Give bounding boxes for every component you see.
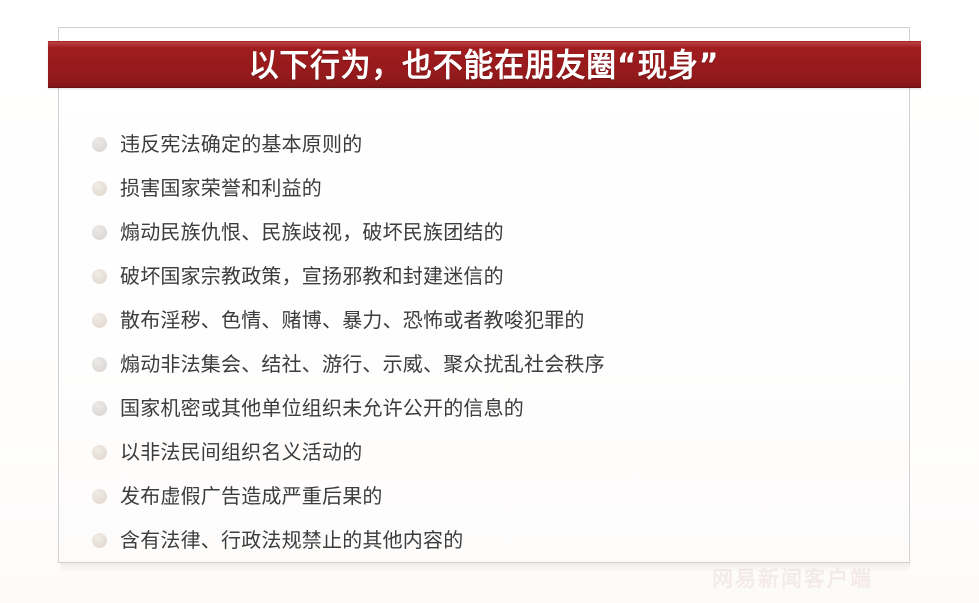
list-item: 散布淫秽、色情、赌博、暴力、恐怖或者教唆犯罪的 xyxy=(92,298,882,342)
list-item: 发布虚假广告造成严重后果的 xyxy=(92,474,882,518)
dot-bullet-icon xyxy=(92,225,107,240)
page-title: 以下行为，也不能在朋友圈“现身” xyxy=(249,49,720,81)
list-item-label: 煽动非法集会、结社、游行、示威、聚众扰乱社会秩序 xyxy=(120,353,605,375)
list-item: 煽动民族仇恨、民族歧视，破坏民族团结的 xyxy=(92,210,882,254)
dot-bullet-icon xyxy=(92,357,107,372)
list-item: 含有法律、行政法规禁止的其他内容的 xyxy=(92,518,882,562)
list-item-label: 违反宪法确定的基本原则的 xyxy=(120,133,362,155)
dot-bullet-icon xyxy=(92,269,107,284)
list-item: 煽动非法集会、结社、游行、示威、聚众扰乱社会秩序 xyxy=(92,342,882,386)
list-item: 违反宪法确定的基本原则的 xyxy=(92,122,882,166)
list-item-label: 发布虚假广告造成严重后果的 xyxy=(120,485,383,507)
list-item: 损害国家荣誉和利益的 xyxy=(92,166,882,210)
list-item-label: 破坏国家宗教政策，宣扬邪教和封建迷信的 xyxy=(120,265,504,287)
page-root: 以下行为，也不能在朋友圈“现身” 违反宪法确定的基本原则的 损害国家荣誉和利益的… xyxy=(0,0,979,603)
list-item: 国家机密或其他单位组织未允许公开的信息的 xyxy=(92,386,882,430)
dot-bullet-icon xyxy=(92,489,107,504)
list-item-label: 以非法民间组织名义活动的 xyxy=(120,441,362,463)
list-item-label: 含有法律、行政法规禁止的其他内容的 xyxy=(120,529,463,551)
dot-bullet-icon xyxy=(92,401,107,416)
watermark: 网易新闻客户端 xyxy=(712,563,873,593)
list-item-label: 煽动民族仇恨、民族歧视，破坏民族团结的 xyxy=(120,221,504,243)
list-item: 破坏国家宗教政策，宣扬邪教和封建迷信的 xyxy=(92,254,882,298)
prohibited-behaviour-list: 违反宪法确定的基本原则的 损害国家荣誉和利益的 煽动民族仇恨、民族歧视，破坏民族… xyxy=(92,122,882,562)
list-item-label: 散布淫秽、色情、赌博、暴力、恐怖或者教唆犯罪的 xyxy=(120,309,585,331)
dot-bullet-icon xyxy=(92,445,107,460)
dot-bullet-icon xyxy=(92,137,107,152)
list-item: 以非法民间组织名义活动的 xyxy=(92,430,882,474)
list-item-label: 损害国家荣誉和利益的 xyxy=(120,177,322,199)
dot-bullet-icon xyxy=(92,181,107,196)
dot-bullet-icon xyxy=(92,533,107,548)
header-banner: 以下行为，也不能在朋友圈“现身” xyxy=(48,41,921,88)
card-drop-shadow xyxy=(60,563,910,572)
dot-bullet-icon xyxy=(92,313,107,328)
list-item-label: 国家机密或其他单位组织未允许公开的信息的 xyxy=(120,397,524,419)
